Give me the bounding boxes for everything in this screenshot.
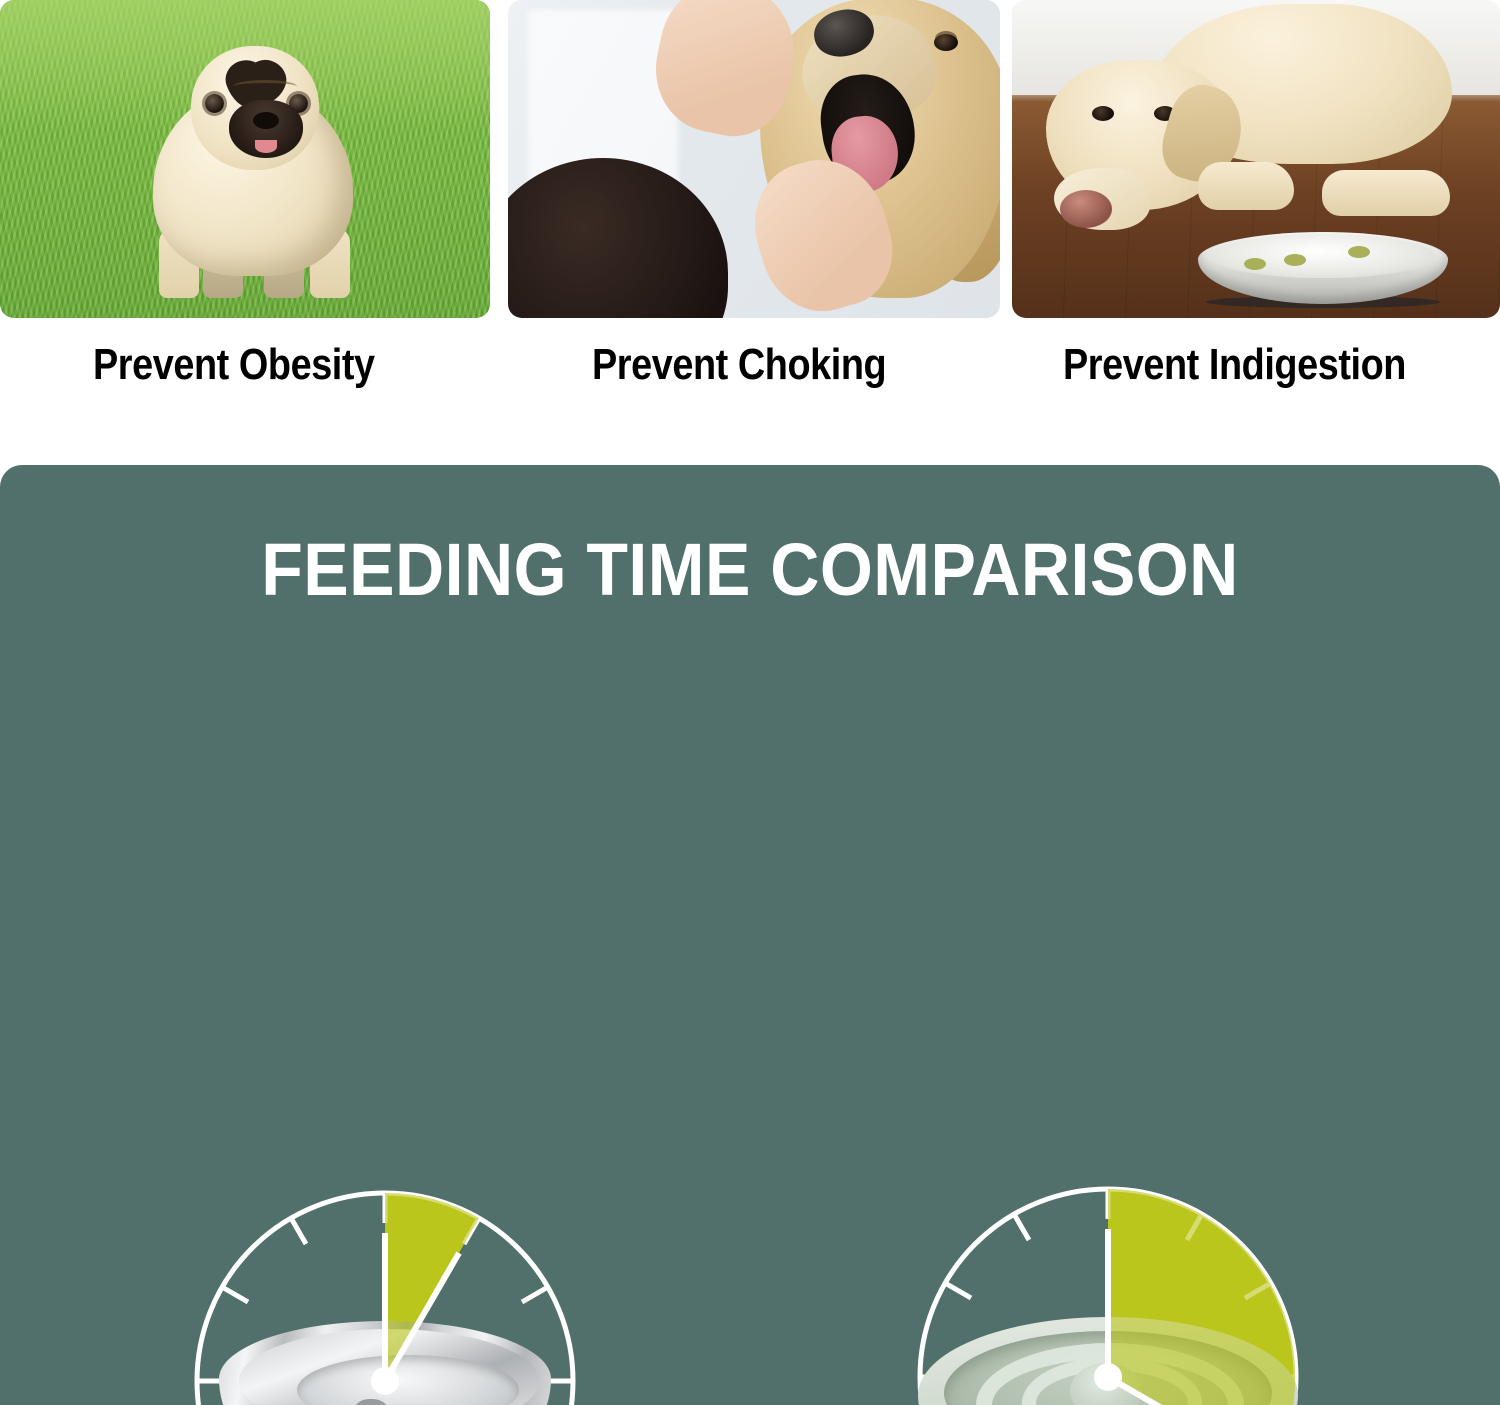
photo-card-prevent-choking [508,0,1000,318]
caption-prevent-obesity: Prevent Obesity [93,340,375,390]
pug-forehead-wrinkle [233,80,297,93]
caption-prevent-choking: Prevent Choking [592,340,886,390]
labrador-paw [1198,162,1294,210]
pug-nose [253,112,279,129]
food-bowl-inner [1210,234,1436,278]
labrador-eye [1092,106,1114,121]
clock-dial-normal-bowl [179,1175,591,1405]
clock-hands-slow [902,1171,1314,1405]
benefit-caption-row: Prevent Obesity Prevent Choking Prevent … [0,340,1500,420]
photo-card-prevent-obesity [0,0,490,318]
wedge-overlay [1108,1189,1295,1405]
labrador-snout [1054,168,1150,230]
pug-illustration [145,28,360,298]
food-bowl-rim [1198,232,1448,304]
labrador-paw [1322,170,1450,216]
labrador-nose [1060,190,1112,228]
kibble-piece [1284,254,1306,266]
retriever-eye [934,34,958,51]
page-title: FEEDING TIME COMPARISON [60,527,1440,612]
benefit-photo-strip [0,0,1500,330]
labrador-illustration [1022,4,1442,234]
photo-choking-icon [508,0,1000,318]
feeding-time-comparison-panel: FEEDING TIME COMPARISON [0,465,1500,1405]
photo-indigestion-icon [1012,0,1500,318]
caption-prevent-indigestion: Prevent Indigestion [1063,340,1406,390]
photo-card-prevent-indigestion [1012,0,1500,318]
photo-pug-icon [0,0,490,318]
kibble-piece [1244,258,1266,270]
pug-tongue [255,140,277,153]
clock-center-pin [1094,1363,1122,1391]
clock-hands-normal [179,1175,591,1405]
kibble-piece [1348,246,1370,258]
food-bowl-photo [1198,218,1448,304]
clock-center-pin [371,1367,399,1395]
pug-eye [205,94,224,113]
clock-dial-slow-feeding-bowl [902,1171,1314,1405]
